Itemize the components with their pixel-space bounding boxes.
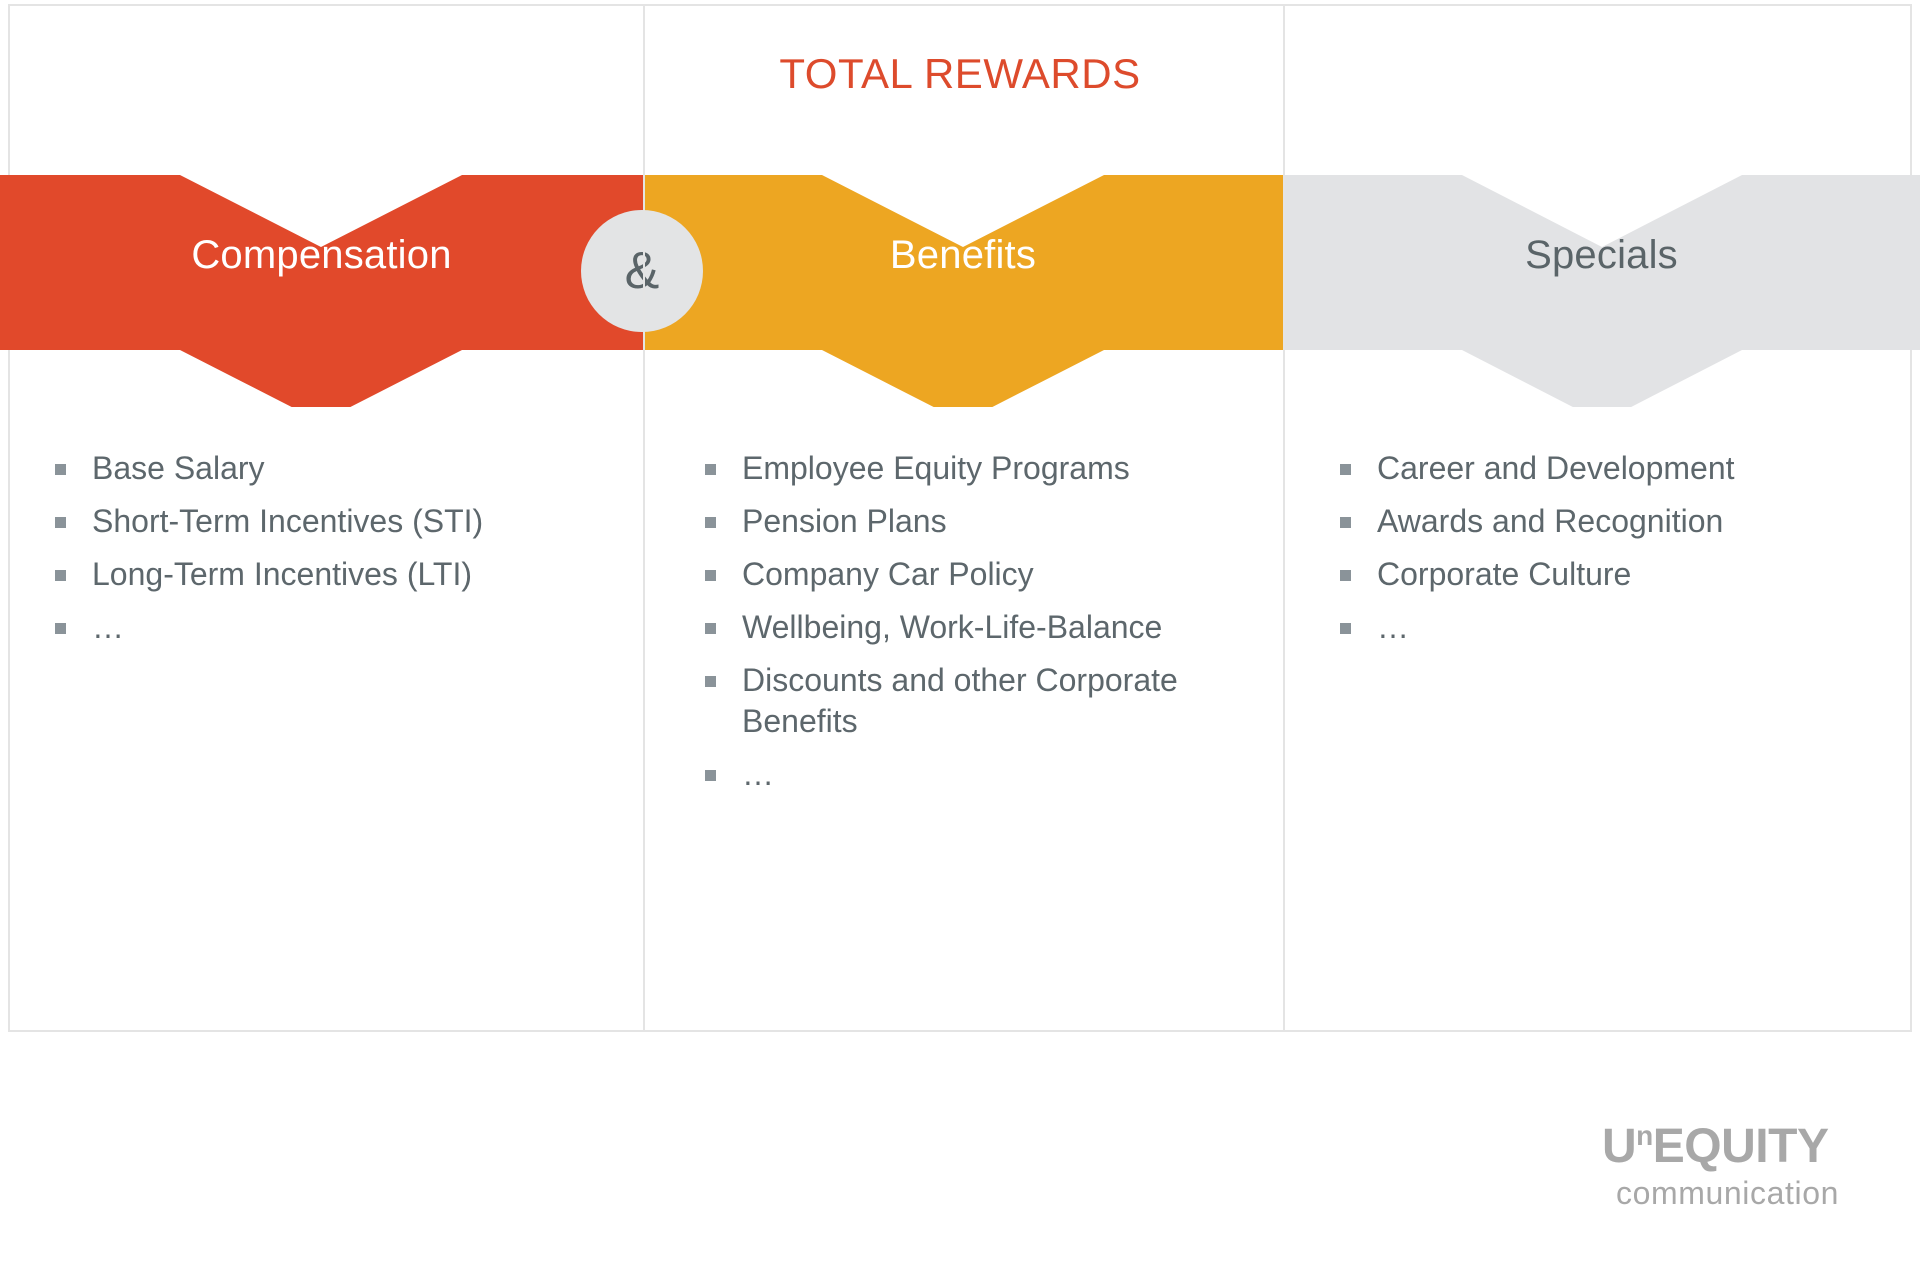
bullet-square-icon bbox=[55, 464, 66, 475]
logo-tagline: communication bbox=[1616, 1177, 1882, 1209]
list-item: … bbox=[50, 607, 620, 648]
chevron-shape-benefits bbox=[643, 175, 1283, 407]
list-item-label: Long-Term Incentives (LTI) bbox=[92, 556, 472, 592]
bullet-square-icon bbox=[55, 623, 66, 634]
list-item: Base Salary bbox=[50, 448, 620, 489]
chevron-shape-compensation bbox=[0, 175, 643, 407]
bullet-square-icon bbox=[705, 570, 716, 581]
bullet-square-icon bbox=[1340, 464, 1351, 475]
bullet-square-icon bbox=[55, 570, 66, 581]
column-divider-1 bbox=[643, 6, 645, 1032]
bullet-square-icon bbox=[55, 517, 66, 528]
ampersand-badge: & bbox=[581, 210, 703, 332]
list-item: Pension Plans bbox=[700, 501, 1270, 542]
list-item: … bbox=[700, 754, 1270, 795]
list-item-label: Corporate Culture bbox=[1377, 556, 1631, 592]
list-item-label: … bbox=[1377, 609, 1409, 645]
bullet-square-icon bbox=[1340, 570, 1351, 581]
bullet-square-icon bbox=[705, 623, 716, 634]
list-item-label: … bbox=[742, 756, 774, 792]
brand-logo: UnEQUITY communication bbox=[1602, 1122, 1882, 1209]
list-item-label: Pension Plans bbox=[742, 503, 947, 539]
list-item-label: Career and Development bbox=[1377, 450, 1735, 486]
list-item: Career and Development bbox=[1335, 448, 1895, 489]
list-item: … bbox=[1335, 607, 1895, 648]
page-title: TOTAL REWARDS bbox=[0, 50, 1920, 98]
list-item: Long-Term Incentives (LTI) bbox=[50, 554, 620, 595]
bullet-square-icon bbox=[705, 464, 716, 475]
logo-letter-u: U bbox=[1602, 1120, 1636, 1173]
logo-word-equity: EQUITY bbox=[1653, 1120, 1829, 1173]
column-specials: Career and Development Awards and Recogn… bbox=[1335, 448, 1895, 660]
bullet-list-compensation: Base Salary Short-Term Incentives (STI) … bbox=[50, 448, 620, 648]
chevron-shape-specials bbox=[1283, 175, 1920, 407]
slide-canvas: TOTAL REWARDS Compensation Benefits Spec… bbox=[0, 0, 1920, 1280]
bullet-square-icon bbox=[705, 517, 716, 528]
list-item: Discounts and other Corporate Benefits bbox=[700, 660, 1270, 742]
bullet-square-icon bbox=[1340, 623, 1351, 634]
bullet-square-icon bbox=[705, 676, 716, 687]
list-item: Short-Term Incentives (STI) bbox=[50, 501, 620, 542]
bullet-list-specials: Career and Development Awards and Recogn… bbox=[1335, 448, 1895, 648]
list-item-label: Employee Equity Programs bbox=[742, 450, 1130, 486]
list-item: Wellbeing, Work-Life-Balance bbox=[700, 607, 1270, 648]
list-item-label: Wellbeing, Work-Life-Balance bbox=[742, 609, 1162, 645]
logo-superscript-n: n bbox=[1636, 1120, 1653, 1151]
list-item-label: Base Salary bbox=[92, 450, 265, 486]
list-item-label: Short-Term Incentives (STI) bbox=[92, 503, 483, 539]
list-item-label: Company Car Policy bbox=[742, 556, 1034, 592]
column-divider-2 bbox=[1283, 6, 1285, 1032]
bullet-square-icon bbox=[705, 770, 716, 781]
list-item-label: Awards and Recognition bbox=[1377, 503, 1723, 539]
list-item-label: Discounts and other Corporate Benefits bbox=[742, 662, 1178, 739]
list-item: Awards and Recognition bbox=[1335, 501, 1895, 542]
bullet-square-icon bbox=[1340, 517, 1351, 528]
list-item: Employee Equity Programs bbox=[700, 448, 1270, 489]
column-compensation: Base Salary Short-Term Incentives (STI) … bbox=[50, 448, 620, 660]
list-item: Corporate Culture bbox=[1335, 554, 1895, 595]
bullet-list-benefits: Employee Equity Programs Pension Plans C… bbox=[700, 448, 1270, 795]
list-item: Company Car Policy bbox=[700, 554, 1270, 595]
column-benefits: Employee Equity Programs Pension Plans C… bbox=[700, 448, 1270, 807]
list-item-label: … bbox=[92, 609, 124, 645]
chevron-banner bbox=[0, 175, 1920, 407]
logo-wordmark: UnEQUITY bbox=[1602, 1122, 1882, 1171]
